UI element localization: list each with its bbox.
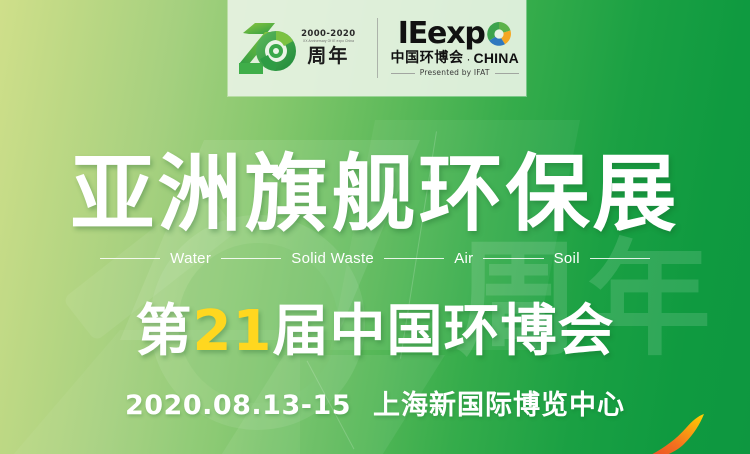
ie-expo-ring-logo-icon [486,21,512,47]
ie-expo-name-cn: 中国环博会 [391,51,464,65]
anniversary-years-cn: 周年 [307,47,349,66]
keyword-air: Air [444,250,483,267]
headline: 亚洲旗舰环保展 [0,152,750,236]
anniversary-years-block: 2000-2020 XX Anniversary Of IE expo Chin… [301,30,355,66]
presented-by-text: Presented by IFAT [420,69,490,77]
keyword-rule [483,258,543,259]
date-venue-line: 2020.08.13-15上海新国际博览中心 [0,392,750,419]
keyword-rule [384,258,444,259]
ie-expo-chinese-row: 中国环博会 · CHINA [391,51,519,65]
ie-expo-promo-banner: 周年 [0,0,750,454]
keyword-rule [221,258,281,259]
ie-expo-dot-separator: · [466,53,472,65]
flame-decoration-icon [638,414,718,454]
keyword-rule [590,258,650,259]
keyword-solid-waste: Solid Waste [281,250,384,267]
keyword-strip: Water Solid Waste Air Soil [0,250,750,267]
anniversary-logo-group: 2000-2020 XX Anniversary Of IE expo Chin… [235,19,365,77]
subheadline-suffix: 届中国环博会 [272,299,614,364]
keyword-rule [100,258,160,259]
event-date: 2020.08.13-15 [125,390,351,421]
event-venue: 上海新国际博览中心 [373,390,625,421]
anniversary-year-subtitle: XX Anniversary Of IE expo China [303,40,354,43]
presented-rule-right [495,73,519,74]
ie-expo-presented-row: Presented by IFAT [391,69,519,77]
subheadline: 第21届中国环博会 [0,304,750,360]
ie-expo-country: CHINA [474,51,519,65]
ie-expo-wordmark-row: IEexp [398,19,512,49]
keyword-water: Water [160,250,221,267]
ie-expo-logo-group: IEexp 中国环博会 · CHINA Presen [389,19,519,77]
ie-expo-wordmark: IEexp [398,19,485,49]
subheadline-prefix: 第 [136,299,193,364]
presented-rule-left [391,73,415,74]
logo-divider [377,18,378,78]
anniversary-20-mark-icon [235,19,297,77]
edition-number: 21 [193,299,273,364]
logo-panel: 2000-2020 XX Anniversary Of IE expo Chin… [228,0,526,96]
anniversary-year-range: 2000-2020 [301,30,355,39]
keyword-soil: Soil [544,250,590,267]
